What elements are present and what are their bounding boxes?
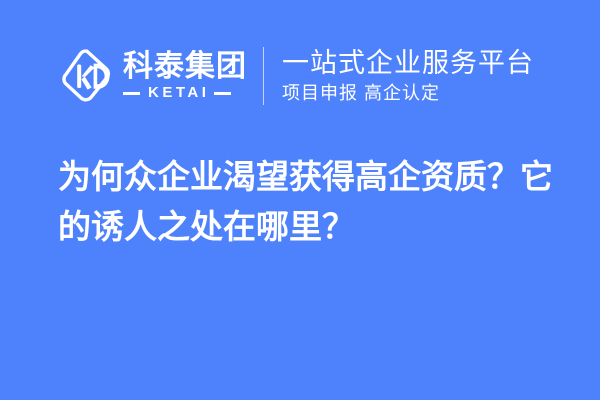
tagline-sub: 项目申报 高企认定 xyxy=(282,81,534,105)
tagline-block: 一站式企业服务平台 项目申报 高企认定 xyxy=(282,45,534,107)
brand-name-en-row: KETAI xyxy=(123,85,247,101)
brand-text-block: 科泰集团 KETAI xyxy=(123,47,247,105)
brand-rule-right-icon xyxy=(214,92,231,95)
ketai-diamond-monogram-logo-icon xyxy=(60,47,114,105)
banner-header: 科泰集团 KETAI 一站式企业服务平台 项目申报 高企认定 xyxy=(60,42,534,110)
tagline-main: 一站式企业服务平台 xyxy=(282,48,534,79)
brand-lockup[interactable]: 科泰集团 KETAI xyxy=(60,45,247,107)
promo-banner: 科泰集团 KETAI 一站式企业服务平台 项目申报 高企认定 为何众企业渴望获得… xyxy=(0,0,600,400)
header-divider xyxy=(263,47,264,105)
brand-name-cn: 科泰集团 xyxy=(123,51,247,83)
headline-line-1: 为何众企业渴望获得高企资质？它 xyxy=(58,152,574,202)
brand-name-en: KETAI xyxy=(140,85,214,101)
brand-rule-left-icon xyxy=(123,92,140,95)
headline-block: 为何众企业渴望获得高企资质？它 的诱人之处在哪里？ xyxy=(58,152,574,252)
headline-line-2: 的诱人之处在哪里？ xyxy=(58,202,574,252)
